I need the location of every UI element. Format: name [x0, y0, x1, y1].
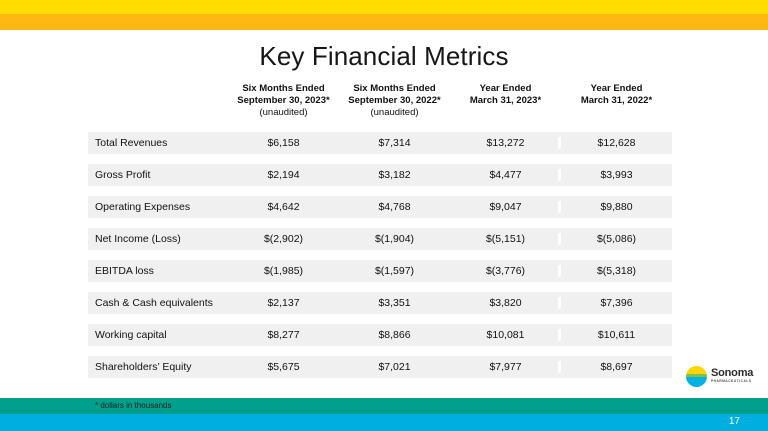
header-cell-col2: Six Months Ended September 30, 2022* (un… [339, 82, 450, 132]
footnote: * dollars in thousands [95, 401, 172, 410]
row-value-col1: $(2,902) [228, 233, 339, 245]
row-value-col2: $7,314 [339, 137, 450, 149]
sonoma-logo: Sonoma PHARMACEUTICALS [686, 364, 760, 388]
header-line3: (unaudited) [339, 107, 450, 119]
row-label: Total Revenues [88, 137, 228, 149]
header-line3: (unaudited) [228, 107, 339, 119]
row-value-col2: $4,768 [339, 201, 450, 213]
header-line2: September 30, 2023* [228, 95, 339, 107]
row-value-col3: $13,272 [450, 137, 561, 149]
footer-cyan-band [0, 414, 768, 431]
row-value-col3: $(5,151) [450, 233, 561, 245]
table-body: Total Revenues$6,158$7,314$13,272$12,628… [88, 132, 672, 378]
header-cell-blank [88, 82, 228, 132]
table-row: Shareholders’ Equity$5,675$7,021$7,977$8… [88, 356, 672, 378]
row-value-col2: $8,866 [339, 329, 450, 341]
row-label: Operating Expenses [88, 201, 228, 213]
row-label: EBITDA loss [88, 265, 228, 277]
row-value-col1: $8,277 [228, 329, 339, 341]
row-value-col3: $3,820 [450, 297, 561, 309]
page-title: Key Financial Metrics [0, 41, 768, 72]
table-row: Gross Profit$2,194$3,182$4,477$3,993 [88, 164, 672, 186]
top-yellow-band [0, 0, 768, 14]
row-value-col4: $9,880 [561, 201, 672, 213]
row-label: Net Income (Loss) [88, 233, 228, 245]
table-row: EBITDA loss$(1,985)$(1,597)$(3,776)$(5,3… [88, 260, 672, 282]
row-value-col4: $(5,086) [561, 233, 672, 245]
row-value-col1: $2,137 [228, 297, 339, 309]
header-cell-col4: Year Ended March 31, 2022* [561, 82, 672, 132]
header-line2: September 30, 2022* [339, 95, 450, 107]
header-cell-col1: Six Months Ended September 30, 2023* (un… [228, 82, 339, 132]
row-value-col1: $2,194 [228, 169, 339, 181]
header-line2: March 31, 2022* [561, 95, 672, 107]
header-line1: Six Months Ended [228, 83, 339, 95]
table-row: Total Revenues$6,158$7,314$13,272$12,628 [88, 132, 672, 154]
row-label: Cash & Cash equivalents [88, 297, 228, 309]
sonoma-circle-icon [686, 366, 707, 387]
row-value-col4: $12,628 [561, 137, 672, 149]
row-value-col2: $(1,904) [339, 233, 450, 245]
row-value-col4: $8,697 [561, 361, 672, 373]
row-value-col3: $(3,776) [450, 265, 561, 277]
row-value-col1: $5,675 [228, 361, 339, 373]
page-number: 17 [729, 416, 740, 427]
row-value-col2: $7,021 [339, 361, 450, 373]
table-row: Operating Expenses$4,642$4,768$9,047$9,8… [88, 196, 672, 218]
header-line1: Six Months Ended [339, 83, 450, 95]
header-line1: Year Ended [561, 83, 672, 95]
logo-name: Sonoma [711, 368, 753, 379]
logo-wordmark: Sonoma PHARMACEUTICALS [711, 368, 753, 383]
row-value-col3: $9,047 [450, 201, 561, 213]
row-value-col1: $(1,985) [228, 265, 339, 277]
row-value-col4: $3,993 [561, 169, 672, 181]
row-value-col3: $7,977 [450, 361, 561, 373]
table-row: Working capital$8,277$8,866$10,081$10,61… [88, 324, 672, 346]
table-row: Net Income (Loss)$(2,902)$(1,904)$(5,151… [88, 228, 672, 250]
row-value-col1: $4,642 [228, 201, 339, 213]
header-cell-col3: Year Ended March 31, 2023* [450, 82, 561, 132]
header-line1: Year Ended [450, 83, 561, 95]
top-gold-band [0, 14, 768, 30]
logo-subtitle: PHARMACEUTICALS [711, 380, 753, 383]
row-value-col1: $6,158 [228, 137, 339, 149]
row-value-col2: $(1,597) [339, 265, 450, 277]
financial-metrics-table: Six Months Ended September 30, 2023* (un… [88, 82, 672, 388]
slide: Key Financial Metrics Six Months Ended S… [0, 0, 768, 431]
row-value-col2: $3,351 [339, 297, 450, 309]
row-value-col3: $10,081 [450, 329, 561, 341]
row-value-col3: $4,477 [450, 169, 561, 181]
table-row: Cash & Cash equivalents$2,137$3,351$3,82… [88, 292, 672, 314]
row-label: Working capital [88, 329, 228, 341]
table-header-row: Six Months Ended September 30, 2023* (un… [88, 82, 672, 132]
row-value-col4: $(5,318) [561, 265, 672, 277]
row-label: Shareholders’ Equity [88, 361, 228, 373]
header-line2: March 31, 2023* [450, 95, 561, 107]
row-value-col4: $10,611 [561, 329, 672, 341]
row-label: Gross Profit [88, 169, 228, 181]
row-value-col2: $3,182 [339, 169, 450, 181]
row-value-col4: $7,396 [561, 297, 672, 309]
